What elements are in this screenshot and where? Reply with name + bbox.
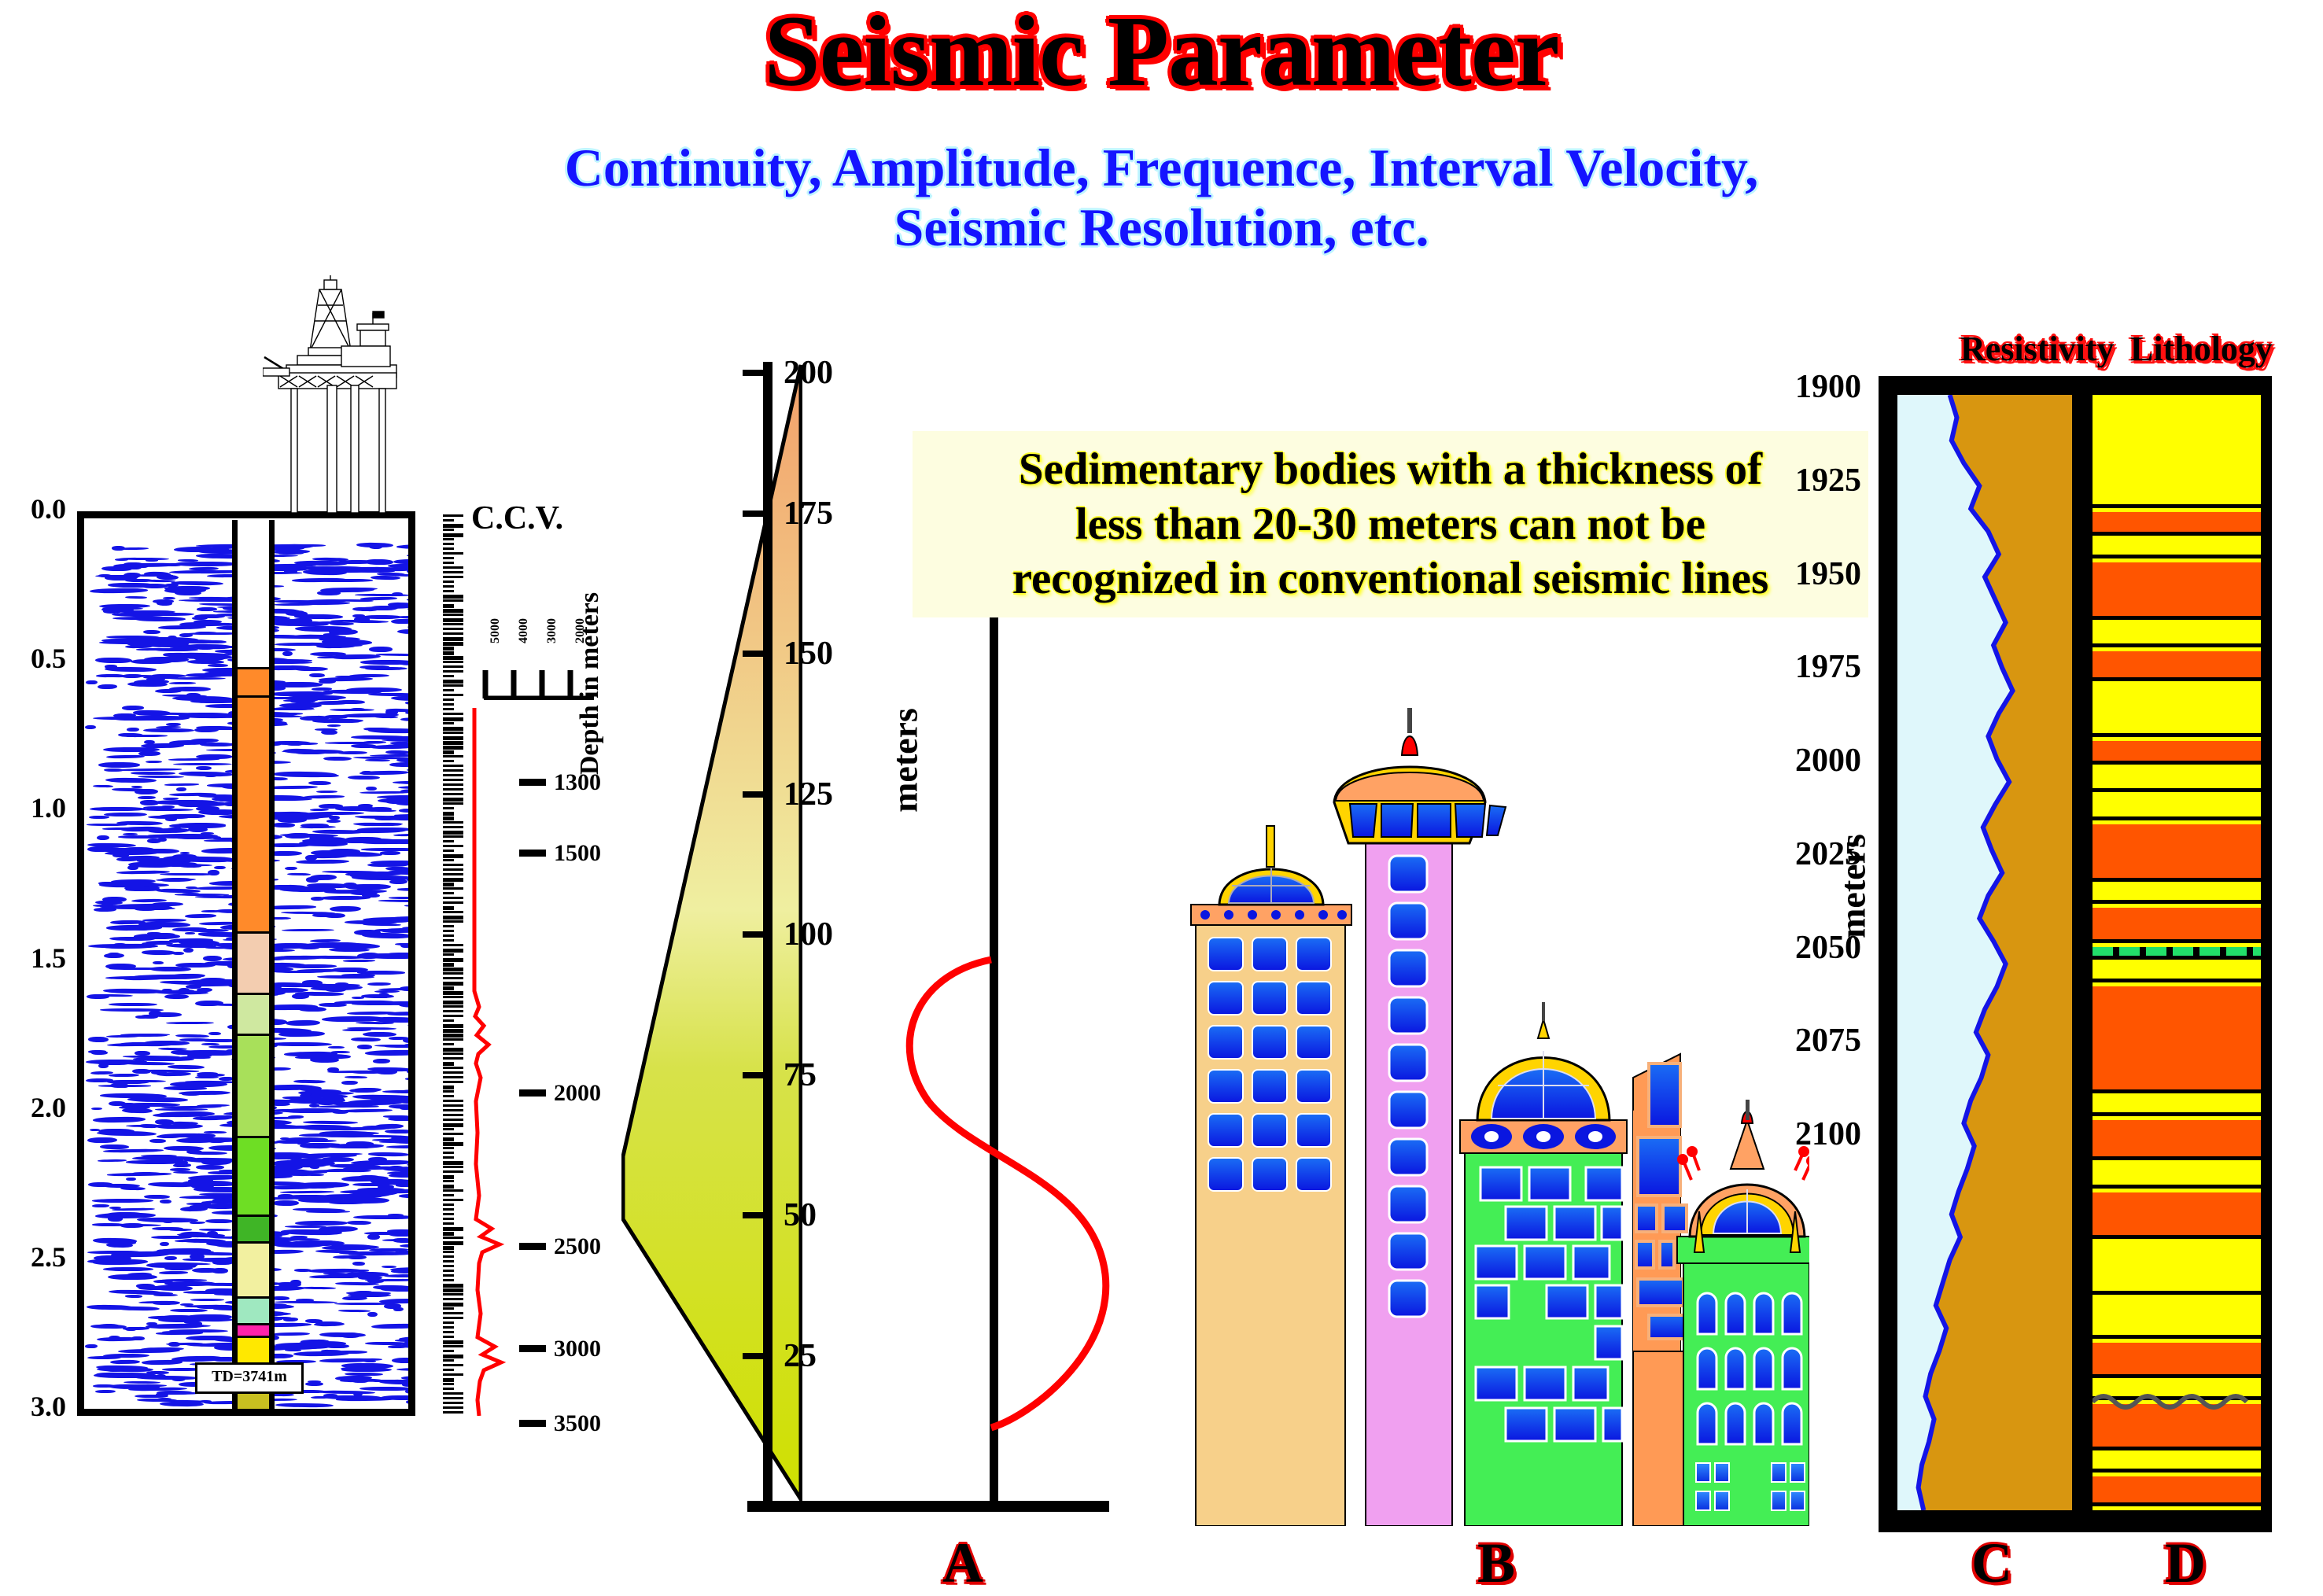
panel-a-tick-mark bbox=[743, 1212, 766, 1218]
lithology-header: Lithology bbox=[2130, 329, 2273, 369]
seismic-trace bbox=[108, 953, 120, 956]
ccv-tick bbox=[443, 1152, 454, 1154]
ccv-tick bbox=[443, 1388, 454, 1390]
seismic-trace bbox=[353, 822, 401, 826]
seismic-trace bbox=[194, 1001, 223, 1006]
panel-cd-depth-label: 2000 bbox=[1728, 742, 1861, 780]
seismic-trace bbox=[282, 651, 293, 656]
seismic-trace bbox=[409, 1156, 415, 1159]
seismic-trace bbox=[294, 667, 328, 671]
seismic-trace bbox=[337, 751, 367, 754]
seismic-trace bbox=[305, 855, 317, 861]
seismic-trace bbox=[197, 606, 217, 610]
ccv-tick bbox=[443, 543, 454, 545]
panel-cd-depth-label: 2050 bbox=[1728, 929, 1861, 967]
seismic-trace bbox=[153, 1294, 178, 1296]
seismic-trace bbox=[397, 786, 415, 790]
page-subtitle: Continuity, Amplitude, Frequence, Interv… bbox=[0, 138, 2323, 257]
depth-meters-tick-mark bbox=[519, 1089, 546, 1097]
seismic-trace bbox=[108, 1274, 157, 1280]
lithology-band bbox=[2093, 395, 2261, 508]
seismic-trace bbox=[170, 1082, 227, 1087]
seismic-trace bbox=[326, 820, 341, 823]
seismic-section-panel: Depth in seconds (t.w.t.) TD=3741m 0.00.… bbox=[77, 511, 415, 1416]
panel-a-tick-label: 25 bbox=[784, 1337, 817, 1375]
seismic-trace bbox=[407, 877, 415, 883]
seismic-trace bbox=[321, 729, 337, 735]
lithology-band bbox=[2093, 540, 2261, 558]
ccv-tick bbox=[443, 1029, 463, 1033]
panel-a-tick-label: 200 bbox=[784, 354, 833, 392]
seismic-trace bbox=[196, 806, 219, 811]
seismic-trace bbox=[365, 559, 393, 565]
ccv-tick bbox=[443, 1194, 454, 1196]
lithology-band bbox=[2093, 947, 2261, 960]
seismic-trace bbox=[313, 1322, 344, 1327]
ccv-tick bbox=[443, 623, 463, 625]
well-lithology-segment bbox=[238, 1299, 269, 1325]
well-lithology-segment bbox=[238, 1325, 269, 1338]
ccv-tick bbox=[443, 1067, 463, 1069]
ccv-tick bbox=[443, 661, 463, 663]
seismic-trace bbox=[283, 1195, 337, 1200]
subtitle-line-2: Seismic Resolution, etc. bbox=[0, 197, 2323, 257]
seismic-trace bbox=[352, 1003, 404, 1005]
seismic-trace bbox=[400, 1106, 412, 1110]
ccv-tick bbox=[443, 953, 454, 956]
seismic-trace bbox=[283, 1108, 341, 1113]
seismic-trace bbox=[353, 1215, 415, 1219]
seismic-trace bbox=[301, 1093, 312, 1096]
seismic-trace bbox=[356, 1143, 372, 1148]
ccv-tick bbox=[443, 665, 463, 668]
seismic-trace bbox=[384, 1273, 415, 1277]
seismic-trace bbox=[104, 1255, 124, 1258]
seismic-trace bbox=[292, 993, 310, 999]
seismic-trace bbox=[285, 1348, 301, 1351]
panel-cd-depth-label: 1975 bbox=[1728, 648, 1861, 686]
lithology-band bbox=[2093, 769, 2261, 792]
ccv-tick bbox=[443, 963, 454, 967]
seismic-trace bbox=[341, 1367, 392, 1371]
lithology-band bbox=[2093, 824, 2261, 882]
seismic-trace bbox=[157, 601, 172, 606]
seismic-trace bbox=[410, 1007, 415, 1011]
well-lithology-segment bbox=[238, 1244, 269, 1299]
seismic-trace bbox=[164, 1086, 207, 1090]
seismic-trace bbox=[153, 648, 198, 651]
ccv-tick bbox=[443, 1326, 454, 1329]
seismic-trace bbox=[183, 948, 194, 953]
ccv-tick bbox=[443, 1137, 454, 1141]
seismic-trace bbox=[203, 956, 222, 961]
seismic-trace bbox=[376, 654, 415, 657]
ccv-tick bbox=[443, 1331, 454, 1333]
panel-a-tick-label: 175 bbox=[784, 495, 833, 533]
ccv-tick bbox=[443, 1100, 463, 1102]
ccv-tick bbox=[443, 1086, 454, 1089]
ccv-tick bbox=[443, 774, 463, 776]
seismic-trace bbox=[179, 1090, 230, 1095]
seismic-trace bbox=[331, 1051, 350, 1053]
seismic-trace bbox=[214, 866, 226, 869]
panel-a-wavelet-curve bbox=[881, 944, 1117, 1447]
ccv-tick bbox=[443, 996, 463, 998]
seismic-trace bbox=[166, 1022, 214, 1025]
seismic-trace bbox=[110, 1083, 128, 1088]
depth-meters-tick-label: 2000 bbox=[554, 1080, 601, 1107]
seismic-trace bbox=[101, 847, 120, 850]
building-violet-cathedral bbox=[1677, 1100, 1809, 1526]
seismic-trace bbox=[404, 745, 415, 747]
seismic-trace bbox=[389, 897, 415, 899]
seismic-trace bbox=[319, 677, 373, 682]
lithology-band bbox=[2093, 964, 2261, 982]
ccv-tick bbox=[443, 798, 463, 802]
ccv-tick bbox=[443, 727, 463, 731]
seismic-trace bbox=[107, 1172, 171, 1176]
seismic-trace bbox=[138, 775, 184, 777]
seismic-trace bbox=[323, 1394, 337, 1397]
seismic-trace bbox=[143, 630, 160, 634]
ccv-tick bbox=[443, 604, 454, 608]
seismic-trace bbox=[98, 882, 157, 887]
ccv-tick bbox=[443, 1260, 454, 1262]
seismic-trace bbox=[132, 1034, 168, 1038]
seismic-trace bbox=[98, 684, 117, 688]
seismic-trace bbox=[173, 763, 232, 765]
seismic-trace bbox=[350, 708, 365, 711]
ccv-tick bbox=[443, 717, 463, 721]
seismic-trace bbox=[396, 544, 415, 549]
ccv-tick bbox=[443, 1048, 463, 1052]
seismic-trace bbox=[162, 1218, 174, 1223]
note-line-2: less than 20-30 meters can not be bbox=[927, 497, 1854, 552]
total-depth-label: TD=3741m bbox=[195, 1362, 304, 1394]
seismic-trace bbox=[312, 687, 332, 691]
lithology-band bbox=[2093, 1164, 2261, 1188]
seismic-trace bbox=[272, 823, 295, 827]
building-orange-jagged bbox=[1633, 1054, 1687, 1526]
ccv-tick bbox=[443, 1203, 454, 1206]
seismic-trace bbox=[110, 1360, 140, 1365]
ccv-tick bbox=[443, 1402, 463, 1404]
seismic-trace bbox=[164, 1146, 204, 1151]
seismic-trace bbox=[405, 1388, 415, 1393]
ccv-tick bbox=[443, 1034, 463, 1038]
seismic-trace bbox=[342, 1029, 371, 1031]
seismic-trace bbox=[273, 707, 314, 710]
seismic-trace bbox=[154, 800, 218, 805]
panel-a-tick-mark bbox=[743, 370, 766, 376]
ccv-tick bbox=[443, 614, 463, 616]
panel-a-tick-label: 75 bbox=[784, 1056, 817, 1094]
ccv-tick bbox=[443, 897, 463, 899]
seismic-trace bbox=[405, 1244, 415, 1248]
seismic-trace bbox=[352, 1261, 365, 1265]
seismic-trace bbox=[378, 899, 415, 902]
ccv-tick bbox=[443, 972, 463, 975]
ccv-tick bbox=[443, 939, 454, 942]
seismic-trace bbox=[142, 809, 194, 812]
seismic-trace bbox=[161, 1279, 207, 1281]
lithology-band bbox=[2093, 1097, 2261, 1115]
seismic-trace bbox=[200, 640, 227, 643]
seismic-trace bbox=[268, 1042, 332, 1047]
ccv-tick bbox=[443, 609, 463, 613]
seismic-trace bbox=[164, 1256, 177, 1260]
lithology-band bbox=[2093, 986, 2261, 1094]
seismic-trace bbox=[138, 796, 156, 799]
seismic-trace bbox=[343, 960, 375, 962]
ccv-tick bbox=[443, 916, 463, 920]
seismic-trace bbox=[190, 1299, 224, 1301]
seismic-trace bbox=[393, 1307, 404, 1311]
seismic-trace bbox=[136, 1284, 155, 1288]
seismic-trace bbox=[164, 994, 189, 999]
ccv-tick bbox=[443, 746, 463, 750]
ccv-tick bbox=[443, 925, 454, 927]
ccv-tick bbox=[443, 618, 463, 622]
seismic-trace bbox=[399, 1067, 415, 1071]
seismic-trace bbox=[312, 719, 363, 724]
seismic-trace bbox=[117, 768, 182, 771]
seismic-trace bbox=[86, 680, 98, 684]
seismic-trace bbox=[383, 1167, 415, 1172]
seismic-depth-tick: 0.5 bbox=[0, 642, 66, 675]
seismic-trace bbox=[293, 1080, 326, 1084]
ccv-tick bbox=[443, 713, 463, 715]
seismic-trace bbox=[393, 781, 415, 784]
ccv-tick bbox=[443, 1279, 454, 1281]
lithology-band bbox=[2093, 1192, 2261, 1239]
seismic-trace bbox=[90, 588, 149, 594]
seismic-trace bbox=[85, 1344, 98, 1349]
ccv-tick bbox=[443, 892, 454, 894]
ccv-tick bbox=[443, 934, 454, 937]
seismic-trace bbox=[104, 769, 124, 772]
building-green-dome bbox=[1460, 1002, 1627, 1526]
seismic-trace bbox=[140, 1015, 158, 1019]
seismic-trace bbox=[122, 1108, 153, 1114]
seismic-trace bbox=[385, 1129, 414, 1133]
seismic-trace bbox=[392, 592, 403, 596]
seismic-trace bbox=[162, 1331, 204, 1333]
seismic-trace bbox=[90, 807, 146, 811]
panel-cd-depth-label: 2025 bbox=[1728, 835, 1861, 873]
seismic-trace bbox=[273, 771, 337, 777]
ccv-tick bbox=[443, 1383, 454, 1385]
seismic-trace bbox=[368, 728, 415, 733]
ccv-panel: C.C.V. 5000400030002000 bbox=[429, 511, 531, 1416]
seismic-trace bbox=[98, 1159, 127, 1162]
ccv-tick bbox=[443, 1038, 463, 1041]
panel-cd-depth-label: 2100 bbox=[1728, 1115, 1861, 1153]
seismic-trace bbox=[135, 789, 158, 794]
ccv-tick bbox=[443, 1227, 463, 1231]
depth-meters-tick-label: 1500 bbox=[554, 840, 601, 867]
seismic-trace bbox=[360, 770, 409, 775]
seismic-trace bbox=[282, 929, 334, 932]
seismic-trace bbox=[95, 1390, 116, 1393]
seismic-trace bbox=[400, 717, 415, 721]
ccv-tick bbox=[443, 901, 463, 904]
seismic-trace bbox=[87, 1137, 117, 1143]
seismic-trace bbox=[346, 687, 402, 691]
seismic-trace bbox=[190, 1222, 205, 1224]
seismic-trace bbox=[371, 861, 415, 864]
resistivity-curve bbox=[1897, 395, 2072, 1510]
ccv-tick bbox=[443, 1185, 454, 1189]
well-lithology-segment bbox=[238, 995, 269, 1036]
seismic-trace bbox=[131, 786, 142, 788]
seismic-trace bbox=[105, 667, 157, 673]
seismic-trace bbox=[108, 1289, 160, 1294]
seismic-trace bbox=[195, 1076, 219, 1078]
seismic-depth-tick: 1.5 bbox=[0, 942, 66, 975]
ccv-tick bbox=[443, 968, 463, 971]
ccv-tick bbox=[443, 850, 454, 852]
ccv-tick bbox=[443, 760, 454, 762]
ccv-tick bbox=[443, 807, 454, 809]
seismic-trace bbox=[345, 884, 391, 890]
seismic-trace bbox=[108, 583, 156, 588]
ccv-tick bbox=[443, 1222, 454, 1225]
ccv-tick bbox=[443, 1312, 463, 1314]
seismic-trace bbox=[105, 778, 156, 783]
seismic-trace bbox=[368, 1152, 409, 1156]
seismic-trace bbox=[409, 713, 415, 717]
ccv-tick bbox=[443, 519, 454, 522]
seismic-trace bbox=[285, 741, 304, 746]
seismic-trace bbox=[93, 1117, 146, 1123]
seismic-trace bbox=[396, 1395, 415, 1399]
panel-label-d: D bbox=[2165, 1531, 2206, 1596]
seismic-depth-tick: 3.0 bbox=[0, 1390, 66, 1423]
seismic-trace bbox=[306, 877, 319, 883]
seismic-trace bbox=[353, 1190, 398, 1196]
seismic-trace bbox=[125, 888, 161, 892]
depth-meters-tick-label: 2500 bbox=[554, 1233, 601, 1260]
seismic-trace bbox=[95, 1060, 131, 1065]
seismic-trace bbox=[174, 562, 238, 566]
seismic-trace bbox=[341, 1081, 358, 1086]
seismic-trace bbox=[408, 943, 415, 947]
seismic-trace bbox=[400, 1089, 415, 1093]
seismic-trace bbox=[388, 1117, 415, 1121]
ccv-tick bbox=[443, 1024, 463, 1028]
seismic-trace bbox=[308, 781, 331, 785]
seismic-trace bbox=[347, 1221, 371, 1226]
seismic-trace bbox=[127, 682, 168, 687]
seismic-trace bbox=[186, 673, 224, 677]
seismic-trace bbox=[293, 1351, 349, 1356]
ccv-tick bbox=[443, 694, 463, 696]
seismic-trace bbox=[104, 813, 147, 817]
seismic-trace bbox=[120, 1034, 129, 1038]
seismic-trace bbox=[374, 1045, 415, 1047]
ccv-tick bbox=[443, 1057, 463, 1060]
seismic-trace bbox=[402, 1383, 415, 1387]
seismic-trace bbox=[102, 897, 127, 902]
seismic-trace bbox=[109, 1207, 121, 1209]
seismic-trace bbox=[317, 591, 341, 595]
seismic-trace bbox=[89, 816, 109, 819]
seismic-trace bbox=[272, 955, 324, 960]
ccv-tick bbox=[443, 1369, 454, 1371]
ccv-tick bbox=[443, 1406, 463, 1409]
ccv-tick bbox=[443, 595, 463, 599]
ccv-tick bbox=[443, 1237, 463, 1239]
ccv-tick bbox=[443, 779, 463, 781]
seismic-trace bbox=[395, 1338, 415, 1341]
ccv-tick bbox=[443, 684, 463, 687]
lithology-band bbox=[2093, 886, 2261, 904]
seismic-trace bbox=[410, 981, 415, 986]
seismic-trace bbox=[125, 1295, 142, 1298]
seismic-trace bbox=[309, 673, 325, 677]
ccv-tick bbox=[443, 812, 454, 816]
seismic-trace bbox=[323, 756, 352, 760]
seismic-trace bbox=[294, 560, 348, 566]
ccv-tick bbox=[443, 982, 463, 986]
ccv-tick bbox=[443, 1359, 454, 1362]
seismic-trace bbox=[98, 1129, 135, 1133]
seismic-trace bbox=[367, 1312, 378, 1317]
ccv-tick bbox=[443, 1218, 454, 1220]
seismic-trace bbox=[387, 1171, 415, 1175]
seismic-trace bbox=[176, 787, 186, 791]
ccv-tick bbox=[443, 1043, 454, 1045]
seismic-trace bbox=[347, 1099, 404, 1105]
lithology-band bbox=[2093, 741, 2261, 765]
seismic-trace bbox=[168, 757, 219, 760]
ccv-tick bbox=[443, 1241, 463, 1245]
ccv-tick bbox=[443, 1303, 463, 1307]
ccv-tick bbox=[443, 656, 463, 660]
seismic-trace bbox=[407, 1024, 415, 1027]
seismic-trace bbox=[365, 759, 390, 762]
seismic-trace bbox=[285, 867, 297, 871]
seismic-trace bbox=[410, 1382, 415, 1387]
seismic-trace bbox=[93, 905, 120, 907]
ccv-tick bbox=[443, 571, 463, 573]
seismic-trace bbox=[399, 809, 415, 813]
seismic-trace bbox=[408, 782, 415, 786]
seismic-trace bbox=[199, 1400, 212, 1402]
depth-meters-tick-label: 1300 bbox=[554, 769, 601, 796]
ccv-tick bbox=[443, 576, 463, 578]
ccv-tick bbox=[443, 1213, 454, 1215]
seismic-trace bbox=[127, 735, 168, 737]
ccv-tick bbox=[443, 708, 454, 710]
seismic-trace bbox=[169, 682, 196, 684]
ccv-tick bbox=[443, 514, 463, 517]
ccv-tick bbox=[443, 1114, 463, 1116]
seismic-trace bbox=[274, 971, 325, 973]
ccv-tick bbox=[443, 920, 463, 923]
panel-cd-logs: C. Cramez, bbox=[1879, 376, 2272, 1532]
seismic-trace bbox=[195, 631, 218, 634]
seismic-trace bbox=[164, 783, 199, 785]
seismic-trace bbox=[168, 1064, 205, 1069]
seismic-trace bbox=[376, 1069, 397, 1074]
ccv-tick bbox=[443, 1076, 463, 1078]
seismic-trace bbox=[139, 848, 179, 853]
seismic-trace bbox=[371, 575, 400, 580]
seismic-trace bbox=[411, 1308, 415, 1311]
seismic-trace bbox=[410, 617, 415, 621]
